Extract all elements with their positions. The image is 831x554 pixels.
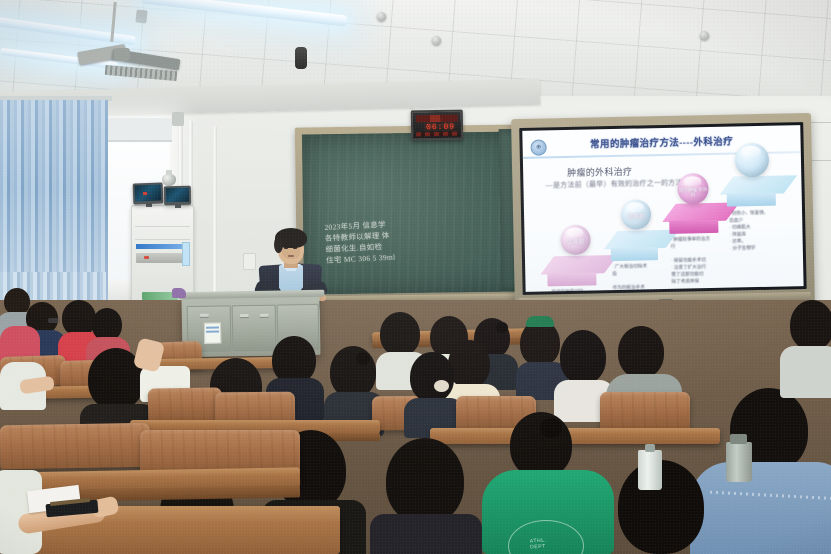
sphere-2-label: 经典期 <box>621 212 651 221</box>
student-head <box>330 346 376 398</box>
bottle-cap-clear <box>645 444 655 452</box>
podium-handle-1[interactable] <box>200 314 209 317</box>
student-head <box>410 352 454 402</box>
slide-note-3: · 肿瘤较事单的治方 行 · 保留功能手术切 · 注意了扩大治行 需了这部功能切… <box>671 235 732 285</box>
led-clock-panel: 06:09 <box>411 110 464 141</box>
slide-sphere-3: 现代肿瘤 学外科 <box>677 173 709 205</box>
platform-1-front <box>547 272 596 286</box>
student-hair-bun <box>356 352 370 365</box>
presentation-screen[interactable]: ⊕ 常用的肿瘤治疗方法----外科治疗 肿瘤的外科治疗 ---是方法前（最早）有… <box>511 113 815 309</box>
platform-4-top <box>720 175 798 195</box>
slide-platform-4 <box>726 175 791 206</box>
monitor-left-indicator <box>143 192 147 195</box>
student-glasses-icon <box>48 318 60 323</box>
sprinkler-head-1 <box>377 12 386 21</box>
ac-power-led <box>144 256 149 259</box>
slide-note-2: · 广大根治切除术 后 作为的根治手术 等 扩脏大扩大切除 术 <box>612 262 671 292</box>
monitor-right[interactable] <box>164 186 191 205</box>
screen-bezel: ⊕ 常用的肿瘤治疗方法----外科治疗 肿瘤的外科治疗 ---是方法前（最早）有… <box>519 122 806 295</box>
ac-panel-line-1 <box>135 226 190 227</box>
platform-3-front <box>669 220 718 234</box>
sprinkler-head-3 <box>700 31 709 40</box>
student-head <box>272 336 316 384</box>
water-bottle-grey <box>726 442 752 482</box>
student-body <box>370 514 482 554</box>
slide-note-1: · 单纯的肿瘤切除 后在在单纯切 除、局部为手 段 <box>549 287 612 292</box>
bottle-cap-grey <box>730 434 747 444</box>
purple-bag-on-desk <box>172 288 186 298</box>
slide-sphere-4 <box>735 143 770 178</box>
fan-hub <box>114 48 130 61</box>
slide-sphere-2: 经典期 <box>621 199 652 230</box>
slide-platform-2 <box>610 230 673 261</box>
monitor-left[interactable] <box>133 182 164 204</box>
student-head <box>448 340 490 388</box>
student-head <box>790 300 831 350</box>
podium-handle-2[interactable] <box>240 314 249 317</box>
slide-content: ⊕ 常用的肿瘤治疗方法----外科治疗 肿瘤的外科治疗 ---是方法前（最早）有… <box>522 125 803 292</box>
student-head <box>380 312 420 356</box>
water-bottle-clear <box>638 450 662 490</box>
platform-2-top <box>604 230 680 250</box>
sphere-1-gloss <box>566 228 584 239</box>
ac-panel-line-2 <box>135 239 190 240</box>
chalk-writing: 2023年5月 信息学 各特教师以解理 体 细菌化生.自如检 住宅 MC 306… <box>324 217 422 274</box>
sphere-1-label: 古典期 <box>561 238 591 247</box>
denim-shirt-body <box>690 462 831 554</box>
sphere-2-gloss <box>626 202 644 213</box>
student-body <box>780 346 831 398</box>
slide-platform-1 <box>547 255 612 286</box>
podium-top <box>178 290 324 300</box>
desk-right-row <box>430 428 720 444</box>
sphere-3-label: 现代肿瘤 学外科 <box>678 187 709 198</box>
slide-sphere-1: 古典期 <box>560 225 591 256</box>
podium-label-sticker <box>204 323 221 344</box>
ac-control-panel[interactable] <box>182 242 190 266</box>
wall-pipe-3 <box>213 126 217 306</box>
student-head <box>560 330 606 384</box>
student-hair-clip <box>540 418 562 438</box>
podium-handle-3[interactable] <box>260 314 269 317</box>
bench-back-center-1 <box>148 387 223 422</box>
platform-4-front <box>727 192 776 206</box>
teacher-mouth <box>288 255 294 257</box>
platform-1-top <box>540 255 618 275</box>
sprinkler-head-2 <box>432 36 441 45</box>
student-head <box>4 288 30 315</box>
student-hair-tie <box>434 380 449 392</box>
clock-top-row <box>416 115 458 123</box>
camera-dome <box>162 174 176 186</box>
student-hair-bun <box>496 322 508 333</box>
slide-platform-3 <box>669 203 734 234</box>
student-head <box>62 300 96 336</box>
clock-bottom-row <box>416 132 458 137</box>
platform-2-front <box>611 247 658 261</box>
blackboard-surface: 2023年5月 信息学 各特教师以解理 体 细菌化生.自如检 住宅 MC 306… <box>302 132 520 295</box>
slide-heading: 肿瘤的外科治疗 <box>567 165 632 179</box>
slide-subheading: ---是方法前（最早）有效的治疗之一的方法 <box>545 178 682 191</box>
ceiling-speaker <box>295 47 307 69</box>
student-head <box>386 438 464 524</box>
light-cap-1 <box>135 9 147 23</box>
bench-back-front-left <box>0 423 150 470</box>
bench-back-right-2 <box>600 392 690 430</box>
sphere-3-gloss <box>683 176 701 187</box>
blackboard: 2023年5月 信息学 各特教师以解理 体 细菌化生.自如检 住宅 MC 306… <box>295 124 527 305</box>
classroom-photo-scene: 2023年5月 信息学 各特教师以解理 体 细菌化生.自如检 住宅 MC 306… <box>0 0 831 554</box>
sphere-4-gloss <box>741 146 761 158</box>
student-green-cap <box>526 316 554 327</box>
podium-door-2[interactable] <box>232 305 277 352</box>
student-head <box>618 326 664 378</box>
monitor-left-screen <box>135 185 162 202</box>
teacher-sideburn <box>274 236 283 253</box>
pipe-junction-box <box>172 112 184 126</box>
slide-note-4: · 创伤小、恢复快、 出血少 · 切缘肌大 · 效益高 · 达率。 · 分子生物… <box>729 208 792 251</box>
monitor-right-screen <box>166 188 189 202</box>
hoodie-print-text: ATHL. DEPT <box>530 538 547 551</box>
